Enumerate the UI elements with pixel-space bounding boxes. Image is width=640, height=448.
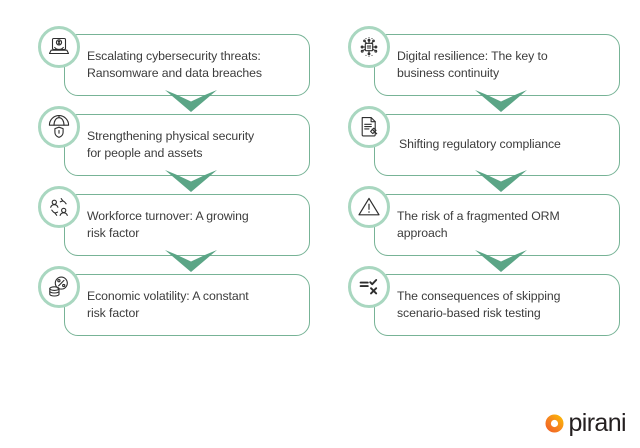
step-label-5: Digital resilience: The key to business … bbox=[375, 48, 558, 83]
step-card-5[interactable]: Digital resilience: The key to business … bbox=[324, 22, 624, 102]
pirani-ring-icon bbox=[544, 413, 565, 434]
step-label-7: The risk of a fragmented ORM approach bbox=[375, 208, 570, 243]
flow-arrow-1 bbox=[164, 88, 218, 114]
coins-percent-icon bbox=[38, 266, 80, 308]
step-card-8[interactable]: The consequences of skipping scenario-ba… bbox=[324, 262, 624, 342]
warning-triangle-icon bbox=[348, 186, 390, 228]
step-box-4[interactable]: Economic volatility: A constant risk fac… bbox=[64, 274, 310, 336]
step-card-2[interactable]: Strengthening physical security for peop… bbox=[14, 102, 314, 182]
step-label-8: The consequences of skipping scenario-ba… bbox=[375, 288, 570, 323]
flow-arrow-6 bbox=[474, 168, 528, 194]
step-label-6: Shifting regulatory compliance bbox=[375, 136, 571, 153]
step-box-7[interactable]: The risk of a fragmented ORM approach bbox=[374, 194, 620, 256]
step-label-1: Escalating cybersecurity threats: Ransom… bbox=[65, 48, 272, 83]
flow-arrow-5 bbox=[474, 88, 528, 114]
step-card-1[interactable]: Escalating cybersecurity threats: Ransom… bbox=[14, 22, 314, 102]
checklist-check-cross-icon bbox=[348, 266, 390, 308]
step-box-2[interactable]: Strengthening physical security for peop… bbox=[64, 114, 310, 176]
step-box-5[interactable]: Digital resilience: The key to business … bbox=[374, 34, 620, 96]
microchip-network-icon bbox=[348, 26, 390, 68]
pirani-logo: pirani bbox=[544, 411, 626, 436]
step-label-4: Economic volatility: A constant risk fac… bbox=[65, 288, 259, 323]
step-box-3[interactable]: Workforce turnover: A growing risk facto… bbox=[64, 194, 310, 256]
step-card-4[interactable]: Economic volatility: A constant risk fac… bbox=[14, 262, 314, 342]
laptop-money-hands-icon bbox=[38, 26, 80, 68]
left-column: Escalating cybersecurity threats: Ransom… bbox=[14, 22, 314, 342]
step-box-6[interactable]: Shifting regulatory compliance bbox=[374, 114, 620, 176]
infographic-canvas: Escalating cybersecurity threats: Ransom… bbox=[0, 0, 640, 448]
step-box-8[interactable]: The consequences of skipping scenario-ba… bbox=[374, 274, 620, 336]
umbrella-shield-icon bbox=[38, 106, 80, 148]
flow-arrow-7 bbox=[474, 248, 528, 274]
step-card-6[interactable]: Shifting regulatory compliance bbox=[324, 102, 624, 182]
pirani-wordmark: pirani bbox=[568, 411, 626, 436]
flow-arrow-2 bbox=[164, 168, 218, 194]
document-gavel-icon bbox=[348, 106, 390, 148]
right-column: Digital resilience: The key to business … bbox=[324, 22, 624, 342]
step-label-2: Strengthening physical security for peop… bbox=[65, 128, 264, 163]
step-card-7[interactable]: The risk of a fragmented ORM approach bbox=[324, 182, 624, 262]
step-box-1[interactable]: Escalating cybersecurity threats: Ransom… bbox=[64, 34, 310, 96]
step-card-3[interactable]: Workforce turnover: A growing risk facto… bbox=[14, 182, 314, 262]
step-label-3: Workforce turnover: A growing risk facto… bbox=[65, 208, 259, 243]
flow-arrow-3 bbox=[164, 248, 218, 274]
people-turnover-cycle-icon bbox=[38, 186, 80, 228]
